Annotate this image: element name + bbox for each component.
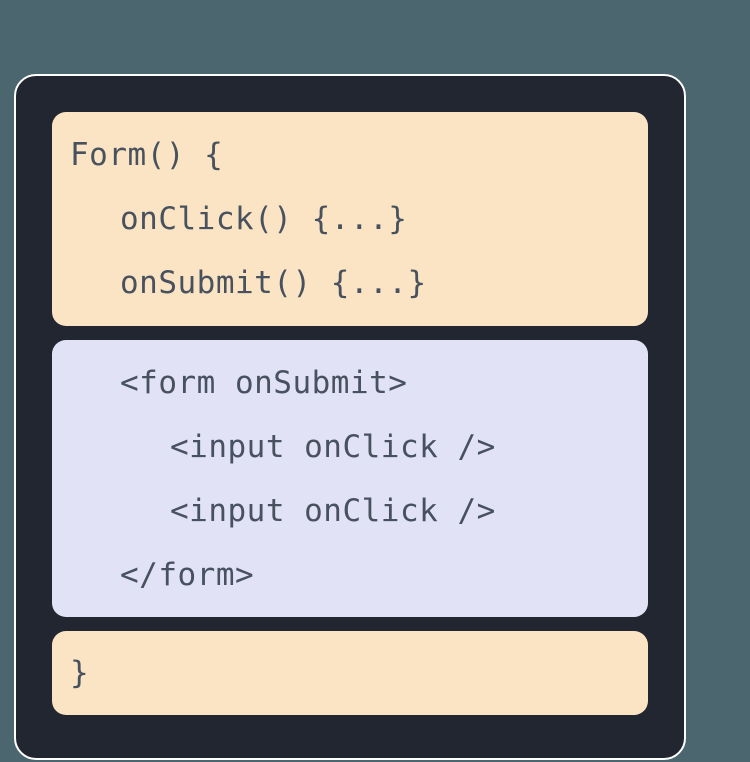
code-panel-component-header: Form() { onClick() {...} onSubmit() {...…	[52, 112, 648, 326]
code-panel-markup: <form onSubmit> <input onClick /> <input…	[52, 340, 648, 617]
code-line-input-onclick-first: <input onClick />	[52, 415, 648, 479]
code-line-form-open: Form() {	[52, 123, 648, 187]
code-card: Form() { onClick() {...} onSubmit() {...…	[14, 74, 686, 760]
code-line-form-close-brace: }	[52, 641, 648, 705]
code-line-form-tag-open: <form onSubmit>	[52, 351, 648, 415]
code-line-onclick-handler: onClick() {...}	[52, 187, 648, 251]
code-line-input-onclick-second: <input onClick />	[52, 479, 648, 543]
code-line-onsubmit-handler: onSubmit() {...}	[52, 251, 648, 315]
diagram-canvas: Form() { onClick() {...} onSubmit() {...…	[0, 0, 750, 762]
code-panel-component-close: }	[52, 631, 648, 715]
code-line-form-tag-close: </form>	[52, 543, 648, 607]
